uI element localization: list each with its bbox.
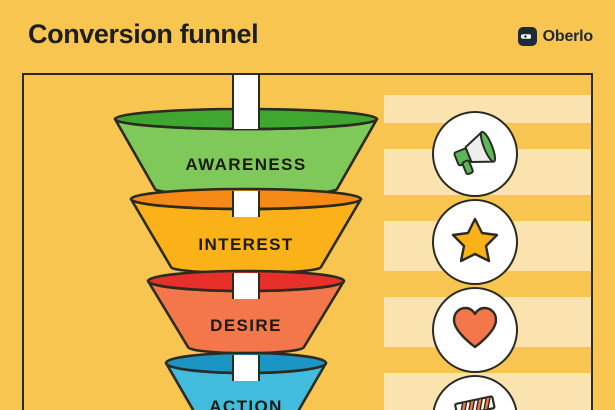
header: Conversion funnel Oberlo <box>0 0 615 73</box>
funnel-neck-segment <box>232 273 260 299</box>
clapperboard-icon <box>449 391 501 410</box>
megaphone-icon-badge[interactable] <box>432 111 518 197</box>
funnel-frame: AWARENESSINTERESTDESIREACTION <box>22 73 593 410</box>
megaphone-icon <box>449 126 501 183</box>
infographic-canvas: Conversion funnel Oberlo AWARENESSINTERE… <box>0 0 615 410</box>
page-title: Conversion funnel <box>28 19 258 50</box>
heart-icon-badge[interactable] <box>432 287 518 373</box>
star-icon-badge[interactable] <box>432 199 518 285</box>
oberlo-tag-icon <box>518 27 537 46</box>
funnel-neck-segment <box>232 191 260 217</box>
funnel-neck-segment <box>232 73 260 129</box>
star-icon <box>450 215 500 270</box>
brand-logo: Oberlo <box>518 27 593 46</box>
brand-name: Oberlo <box>543 28 593 46</box>
funnel-neck-segment <box>232 355 260 381</box>
heart-icon <box>450 303 500 358</box>
